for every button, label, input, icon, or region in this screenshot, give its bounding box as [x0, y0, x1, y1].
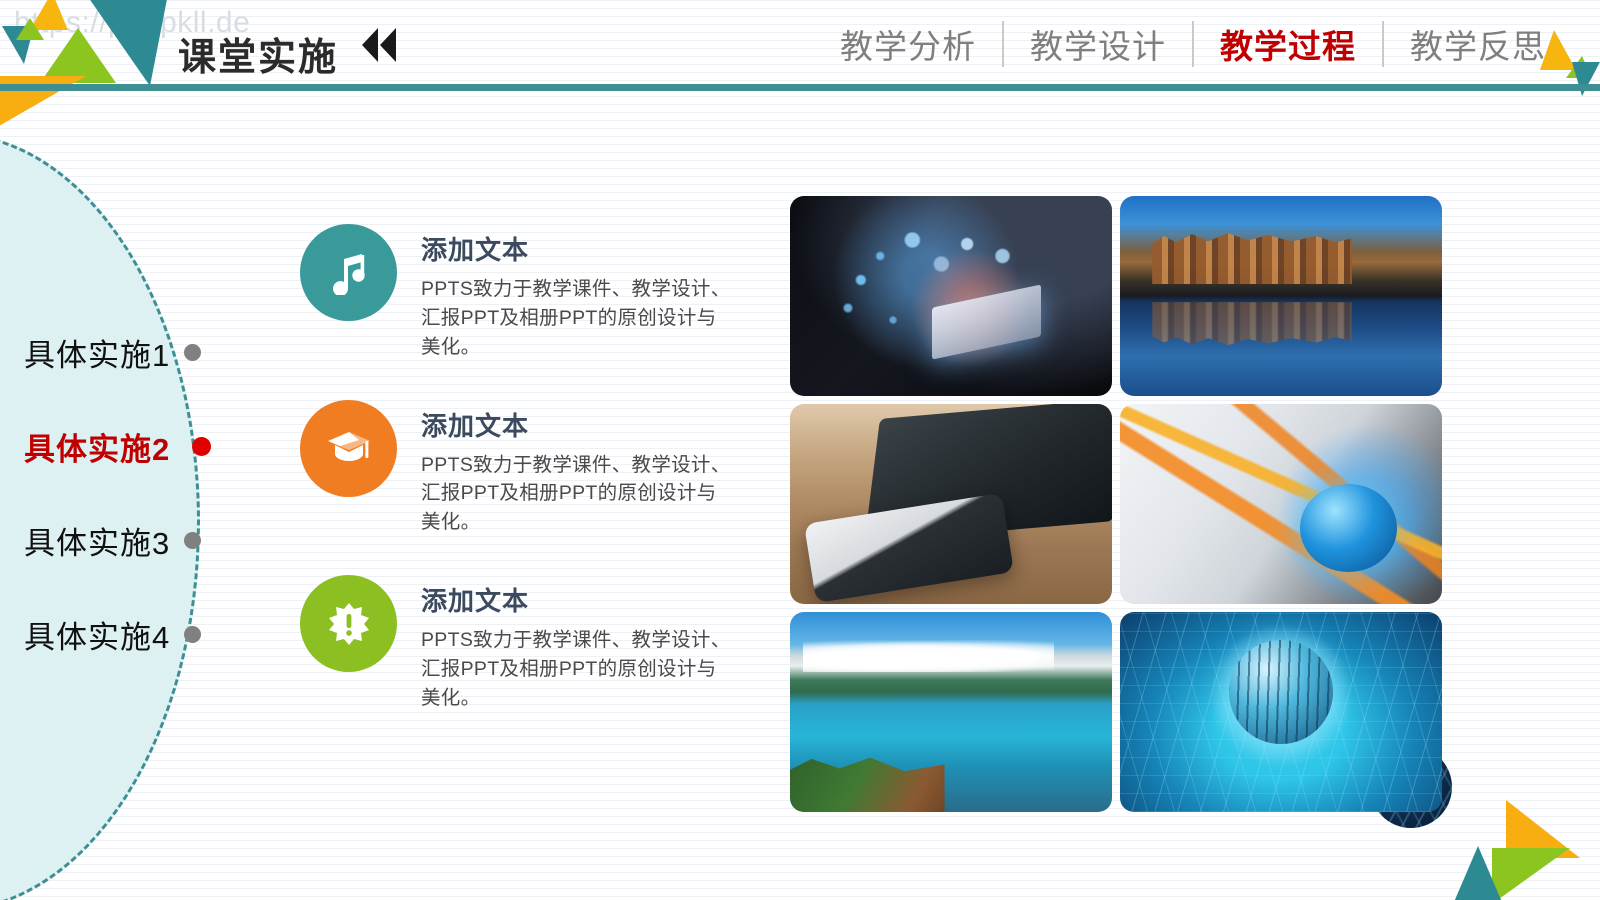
sidebar-item-label: 具体实施1 [24, 330, 170, 375]
sidebar-item-implementation-3[interactable]: 具体实施3 [24, 518, 201, 563]
feature-card-title: 添加文本 [421, 230, 731, 267]
graduation-cap-icon [300, 400, 397, 497]
sidebar-item-implementation-2[interactable]: 具体实施2 [24, 424, 211, 469]
sidebar-item-label: 具体实施4 [24, 612, 170, 657]
photo-grid [790, 196, 1442, 816]
decor-triangle-bottomright-teal [1454, 846, 1502, 900]
feature-card-2[interactable]: 添加文本 PPTS致力于教学课件、教学设计、汇报PPT及相册PPT的原创设计与美… [300, 400, 770, 538]
sidebar-item-dot [184, 344, 201, 361]
sidebar-item-dot [184, 532, 201, 549]
double-chevron-left-icon [362, 28, 396, 62]
feature-card-list: 添加文本 PPTS致力于教学课件、教学设计、汇报PPT及相册PPT的原创设计与美… [300, 224, 770, 751]
feature-card-body: 添加文本 PPTS致力于教学课件、教学设计、汇报PPT及相册PPT的原创设计与美… [421, 400, 731, 538]
feature-card-1[interactable]: 添加文本 PPTS致力于教学课件、教学设计、汇报PPT及相册PPT的原创设计与美… [300, 224, 770, 362]
feature-card-body: 添加文本 PPTS致力于教学课件、教学设计、汇报PPT及相册PPT的原创设计与美… [421, 224, 731, 362]
tab-teaching-process[interactable]: 教学过程 [1194, 20, 1382, 68]
feature-card-title: 添加文本 [421, 581, 731, 618]
feature-card-body: 添加文本 PPTS致力于教学课件、教学设计、汇报PPT及相册PPT的原创设计与美… [421, 575, 731, 713]
tab-teaching-reflection[interactable]: 教学反思 [1384, 20, 1572, 68]
tab-teaching-design[interactable]: 教学设计 [1004, 20, 1192, 68]
sidebar-item-label: 具体实施3 [24, 518, 170, 563]
feature-card-text: PPTS致力于教学课件、教学设计、汇报PPT及相册PPT的原创设计与美化。 [421, 451, 731, 538]
sidebar-item-label: 具体实施2 [24, 424, 170, 469]
sidebar-item-dot [184, 626, 201, 643]
section-nav: 教学分析 教学设计 教学过程 教学反思 [814, 20, 1572, 68]
feature-card-3[interactable]: 添加文本 PPTS致力于教学课件、教学设计、汇报PPT及相册PPT的原创设计与美… [300, 575, 770, 713]
decor-triangle-bottomright-green [1492, 848, 1570, 900]
photo-tropical-beach-bay [790, 612, 1112, 812]
photo-digital-network-laptop [790, 196, 1112, 396]
music-note-icon [300, 224, 397, 321]
sidebar-nav: 具体实施1 具体实施2 具体实施3 具体实施4 [0, 0, 260, 900]
photo-hands-laptop-smartphone [790, 404, 1112, 604]
feature-card-title: 添加文本 [421, 406, 731, 443]
sidebar-item-dot-active [192, 437, 211, 456]
feature-card-text: PPTS致力于教学课件、教学设计、汇报PPT及相册PPT的原创设计与美化。 [421, 626, 731, 713]
sidebar-item-implementation-1[interactable]: 具体实施1 [24, 330, 201, 375]
starburst-exclamation-icon [300, 575, 397, 672]
slide-canvas: https://ppt.pkll.de 课堂实施 教学分析 教学设计 教学过程 … [0, 0, 1600, 900]
photo-global-computer-network [1120, 612, 1442, 812]
tab-teaching-analysis[interactable]: 教学分析 [814, 20, 1002, 68]
feature-card-text: PPTS致力于教学课件、教学设计、汇报PPT及相册PPT的原创设计与美化。 [421, 275, 731, 362]
photo-amsterdam-canal-houses [1120, 196, 1442, 396]
photo-globe-in-hand-media-arrows [1120, 404, 1442, 604]
sidebar-item-implementation-4[interactable]: 具体实施4 [24, 612, 201, 657]
